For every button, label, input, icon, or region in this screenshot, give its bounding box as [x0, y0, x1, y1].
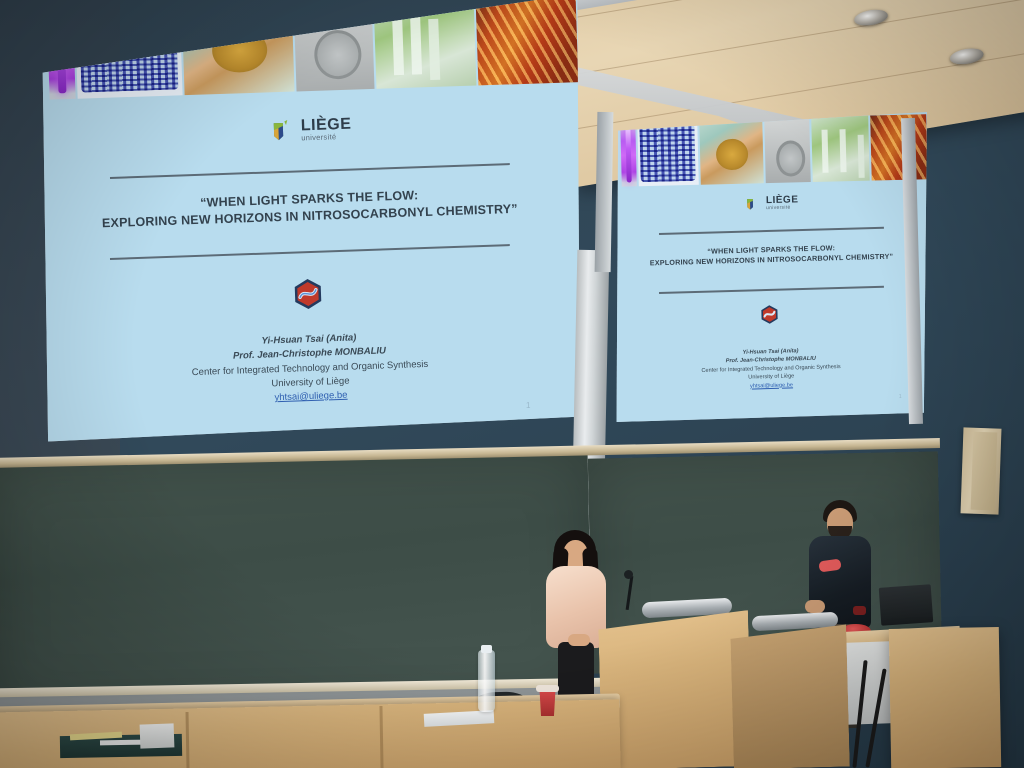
wall-speaker — [961, 427, 1002, 514]
laptop[interactable] — [879, 584, 934, 626]
uv-lamp-icon — [620, 121, 637, 186]
hand — [805, 600, 825, 613]
chalkboard-main — [0, 449, 592, 715]
bottle-cap — [481, 645, 492, 653]
projection-screen-right: LIÈGE université “WHEN LIGHT SPARKS THE … — [615, 112, 927, 422]
slide-divider-top — [659, 227, 884, 235]
hands-grain-icon — [699, 118, 763, 185]
title-slide-right: LIÈGE université “WHEN LIGHT SPARKS THE … — [615, 112, 927, 422]
ceiling-downlight-icon — [853, 7, 889, 27]
slide-presenter-block: Yi-Hsuan Tsai (Anita) Prof. Jean-Christo… — [639, 344, 902, 393]
microphone-head-icon — [624, 570, 633, 579]
lectern-right — [730, 625, 850, 768]
chalk-stick — [100, 740, 146, 746]
slide-divider-bottom — [659, 286, 884, 294]
glassware-icon — [811, 116, 869, 182]
slide-divider-bottom — [110, 244, 509, 260]
instrument-icon — [764, 117, 810, 183]
ceiling-downlight-icon — [949, 46, 985, 66]
slide-presenter-block: Yi-Hsuan Tsai (Anita) Prof. Jean-Christo… — [93, 325, 527, 411]
slide-page-number: 1 — [526, 401, 530, 410]
liege-university-logo: LIÈGE université — [746, 195, 799, 211]
wristwatch — [853, 606, 866, 615]
slide-page-number: 1 — [899, 394, 902, 400]
lecture-hall-photo: LIÈGE université “WHEN LIGHT SPARKS THE … — [0, 0, 1024, 768]
projection-screen-left: LIÈGE université “WHEN LIGHT SPARKS THE … — [40, 0, 580, 446]
water-bottle — [478, 650, 495, 712]
hand — [568, 634, 590, 646]
lectern-left — [598, 610, 752, 768]
orange-tubing-icon — [475, 0, 578, 85]
red-coffee-cup — [538, 690, 557, 716]
liege-shield-icon — [746, 196, 761, 211]
title-slide-left: LIÈGE université “WHEN LIGHT SPARKS THE … — [40, 0, 580, 446]
citos-hexagon-logo-icon — [291, 276, 326, 311]
slide-title: “WHEN LIGHT SPARKS THE FLOW: EXPLORING N… — [72, 182, 548, 232]
slide-divider-top — [110, 163, 509, 179]
coffee-cup-lid — [536, 685, 559, 692]
lectern-far-right — [889, 627, 1001, 768]
card-box-on-desk — [140, 723, 175, 748]
liege-logo-subtitle: université — [301, 133, 352, 142]
liege-university-logo: LIÈGE université — [272, 117, 352, 144]
liege-shield-icon — [272, 119, 297, 144]
liege-logo-subtitle: université — [766, 205, 799, 211]
citos-hexagon-logo-icon — [758, 304, 780, 326]
coil-reactor-icon — [637, 120, 698, 187]
orange-tubing-icon — [870, 114, 928, 180]
slide-title: “WHEN LIGHT SPARKS THE FLOW: EXPLORING N… — [630, 241, 911, 268]
screen-support-pillar-upper — [595, 112, 614, 272]
